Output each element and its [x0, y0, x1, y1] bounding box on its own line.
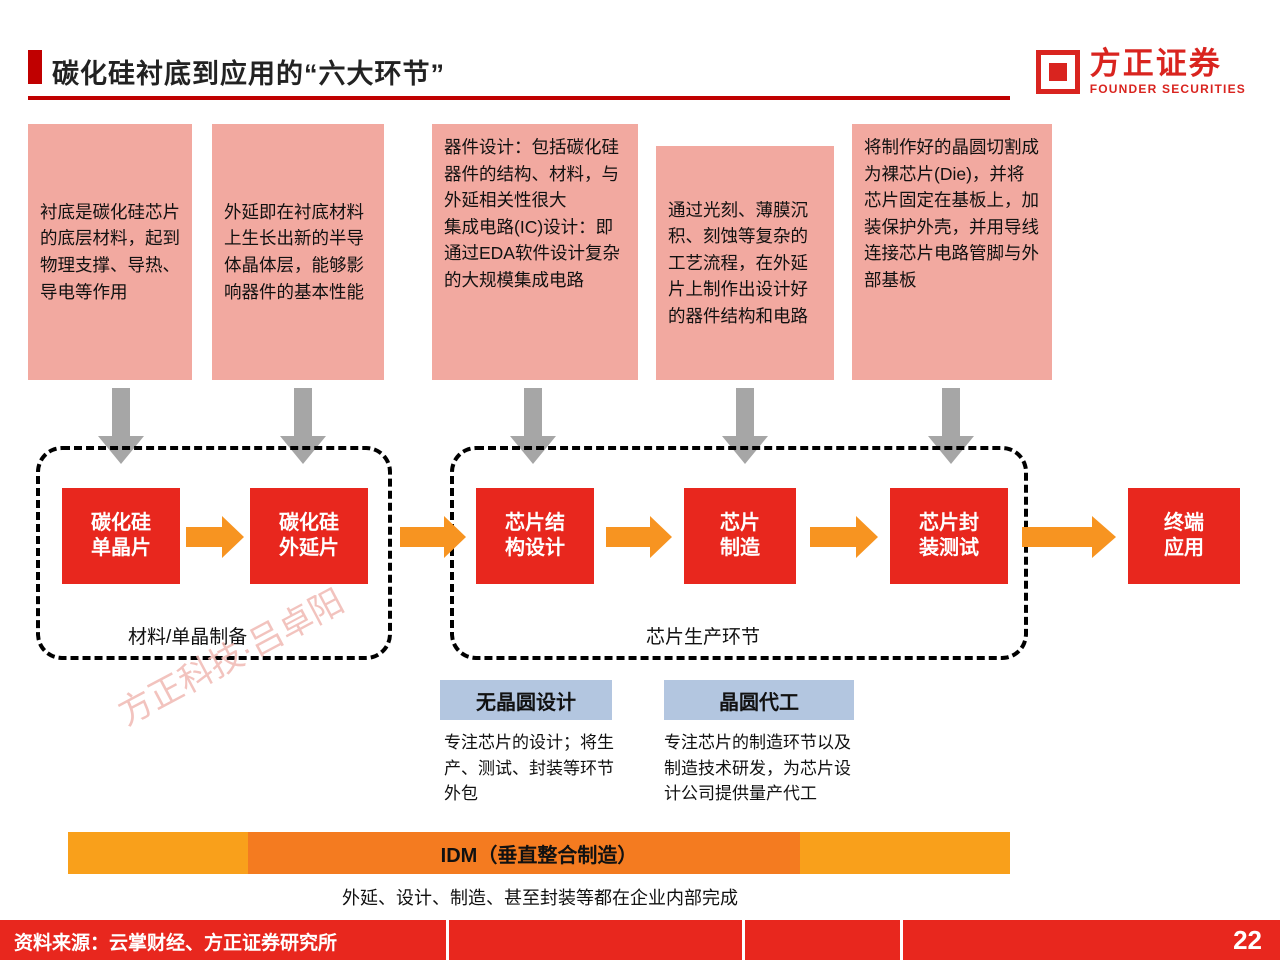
flow-arrow-1 [186, 516, 244, 558]
logo-text-en: FOUNDER SECURITIES [1090, 82, 1246, 96]
flow-arrow-4 [810, 516, 878, 558]
node-sic-wafer[interactable]: 碳化硅 单晶片 [62, 488, 180, 584]
model-label-fabless: 无晶圆设计 [440, 680, 612, 720]
description-box-substrate: 衬底是碳化硅芯片的底层材料，起到物理支撑、导热、导电等作用 [28, 124, 192, 380]
logo-text-cn: 方正证券 [1090, 48, 1246, 79]
founder-logo-icon [1036, 50, 1080, 94]
footer-tick-3 [900, 920, 903, 960]
model-label-foundry: 晶圆代工 [664, 680, 854, 720]
footer-source: 资料来源：云掌财经、方正证券研究所 [14, 928, 337, 955]
description-box-packaging: 将制作好的晶圆切割成为裸芯片(Die)，并将芯片固定在基板上，加装保护外壳，并用… [852, 124, 1052, 380]
idm-caption: 外延、设计、制造、甚至封装等都在企业内部完成 [0, 884, 1080, 910]
description-box-fabrication: 通过光刻、薄膜沉积、刻蚀等复杂的工艺流程，在外延片上制作出设计好的器件结构和电路 [656, 146, 834, 380]
model-desc-foundry: 专注芯片的制造环节以及制造技术研发，为芯片设计公司提供量产代工 [664, 730, 852, 807]
page-title: 碳化硅衬底到应用的“六大环节” [52, 52, 445, 91]
node-chip-structure-design[interactable]: 芯片结 构设计 [476, 488, 594, 584]
flow-arrow-3 [606, 516, 672, 558]
group-label-material: 材料/单晶制备 [128, 622, 247, 649]
page-number: 22 [1233, 925, 1262, 956]
node-terminal-application[interactable]: 终端 应用 [1128, 488, 1240, 584]
group-label-chip-production: 芯片生产环节 [646, 622, 760, 649]
company-logo: 方正证券 FOUNDER SECURITIES [1036, 48, 1246, 96]
description-box-device-design: 器件设计：包括碳化硅器件的结构、材料，与外延相关性很大 集成电路(IC)设计：即… [432, 124, 638, 380]
title-accent-bar [28, 50, 42, 84]
idm-title: IDM（垂直整合制造） [68, 832, 1010, 874]
node-chip-packaging-test[interactable]: 芯片封 装测试 [890, 488, 1008, 584]
node-sic-epitaxial-wafer[interactable]: 碳化硅 外延片 [250, 488, 368, 584]
flow-arrow-5 [1022, 516, 1116, 558]
description-box-epitaxy: 外延即在衬底材料上生长出新的半导体晶体层，能够影响器件的基本性能 [212, 124, 384, 380]
model-desc-fabless: 专注芯片的设计；将生产、测试、封装等环节外包 [444, 730, 624, 807]
footer-tick-2 [742, 920, 745, 960]
footer-tick-1 [446, 920, 449, 960]
title-divider [28, 96, 1010, 100]
node-chip-manufacturing[interactable]: 芯片 制造 [684, 488, 796, 584]
flow-arrow-2 [400, 516, 466, 558]
